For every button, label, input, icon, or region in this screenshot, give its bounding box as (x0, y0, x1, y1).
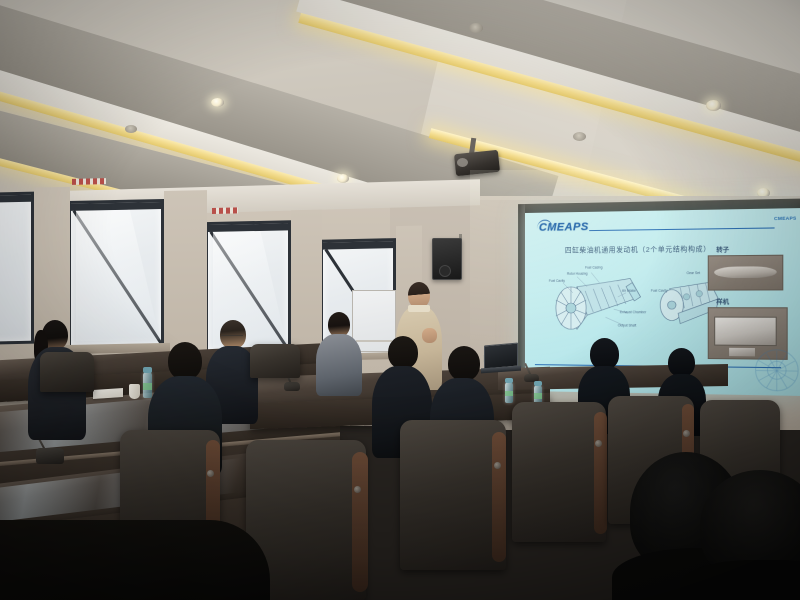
diagram-label-0: Fuel Casing (585, 265, 602, 269)
window-2-transom (208, 223, 288, 232)
downlight-4 (706, 100, 721, 111)
engine-cutaway-diagram: Fuel Casing Rotor Housing Fuel Cavity Ai… (547, 266, 649, 340)
diagram-label-6: Gear Set (687, 271, 701, 275)
attendee-left-back-glasses (221, 335, 243, 339)
gooseneck-microphone-base-1 (36, 448, 64, 464)
slide-title: 四缸柴油机通用发动机（2个单元结构构成） (565, 243, 711, 255)
chair-left-far-2 (250, 344, 300, 378)
slide-corner-mark: CMEAPS (774, 216, 796, 222)
photo-panel-rotor (708, 255, 784, 291)
projector-lens (457, 158, 468, 167)
wall-speaker (432, 238, 462, 280)
wall-pier-2 (164, 190, 207, 363)
bottle-cap (534, 381, 542, 385)
paper-cup-1 (129, 384, 140, 399)
chair-right-1-knob (595, 440, 602, 447)
rotor-photo-object (715, 266, 777, 278)
foreground-chair-mass (0, 520, 270, 600)
window-0-transom (0, 195, 31, 203)
gooseneck-microphone-base-2 (284, 382, 300, 391)
water-bottle-4 (505, 382, 513, 403)
downlight-10 (573, 132, 586, 141)
attendee-center-right-head (448, 346, 480, 381)
attendee-center-front-head (388, 336, 418, 369)
prototype-photo-base (729, 348, 755, 356)
slide-watermark-icon (755, 349, 799, 392)
conference-room-photo: CMEAPS CMEAPS 四缸柴油机通用发动机（2个单元结构构成） (0, 0, 800, 600)
chair-center-1-knob (354, 486, 361, 493)
chair-left-far (40, 352, 94, 392)
slide-logo: CMEAPS (539, 221, 589, 234)
downlight-6 (125, 125, 137, 133)
diagram-label-2: Fuel Cavity (549, 279, 565, 283)
bottle-label (505, 391, 513, 396)
diagram-label-3: Air Intake (622, 289, 636, 293)
chair-center-1-trim (352, 452, 368, 592)
attendee-right-far-head (668, 348, 695, 377)
prototype-photo-object (714, 316, 776, 345)
bottle-cap (505, 378, 513, 383)
chair-right-2-knob (683, 430, 690, 437)
bottle-label (534, 393, 542, 398)
chair-center-2-knob (494, 462, 501, 469)
chair-right-1-trim (594, 412, 607, 534)
chair-right-1 (512, 402, 606, 542)
downlight-2 (337, 174, 349, 183)
photo-label-prototype: 样机 (716, 297, 729, 306)
downlight-9 (469, 23, 483, 33)
diagram-label-7: Fuel Cavity (651, 289, 668, 293)
speaker-cone-icon (439, 265, 451, 277)
window-1-transom (71, 202, 161, 211)
attendee-center-torso (316, 334, 362, 396)
watermark-spoke (776, 371, 777, 391)
attendee-center (316, 312, 364, 390)
diagram-label-4: Exhaust Chamber (620, 310, 646, 314)
chair-center-2 (400, 420, 506, 570)
slide-header-rule (589, 227, 774, 231)
diagram-label-5: Output Shaft (618, 323, 636, 327)
attendee-left-mid-head (168, 342, 202, 380)
engine-cutaway-svg (547, 266, 649, 340)
chair-center-2-trim (492, 432, 506, 562)
diagram-label-1: Rotor Housing (567, 272, 588, 276)
chair-left-1-knob (207, 470, 214, 477)
window-3-transom (323, 241, 393, 249)
downlight-1 (211, 98, 224, 107)
window-1-blind-detail (72, 178, 106, 185)
photo-label-rotor: 转子 (716, 245, 729, 254)
presenter-collar (408, 305, 430, 312)
window-2-blind-detail (212, 207, 238, 214)
attendee-foreground-right-2 (700, 470, 800, 600)
